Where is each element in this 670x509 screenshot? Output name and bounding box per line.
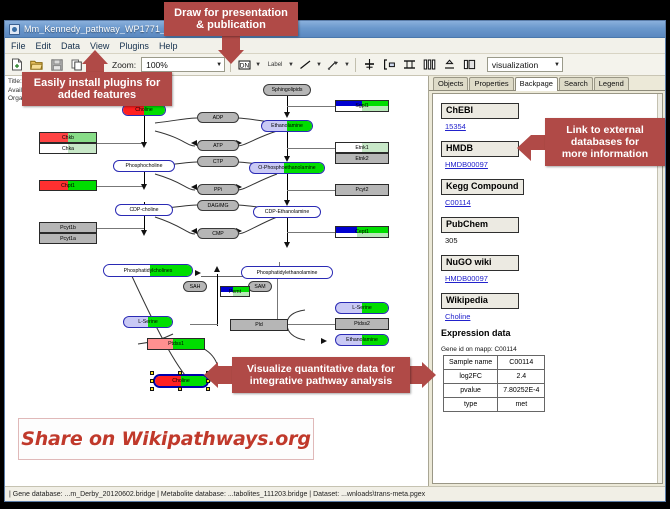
callout-draw-line1: Draw for presentation (174, 7, 288, 19)
line-icon[interactable] (297, 56, 314, 73)
database-name-wikipedia: Wikipedia (441, 293, 519, 309)
metabolite-node-choline-selected[interactable]: Choline (153, 374, 209, 388)
callout-link-line1: Link to external (566, 124, 644, 136)
database-name-hmdb: HMDB (441, 141, 519, 157)
edge-etnk-spine (287, 148, 335, 149)
cofactor-node-cmp[interactable]: CMP (197, 228, 239, 239)
cofactor-node-dagmg[interactable]: DAG/MG (197, 200, 239, 211)
edge-ethanolamine-ope (287, 132, 288, 160)
metabolite-node-ethanolamine-right[interactable]: Ethanolamine (335, 334, 389, 346)
callout-visualize-line1: Visualize quantitative data for (247, 363, 395, 375)
callout-share: Share on Wikipathways.org (18, 418, 314, 460)
label-button-text: Label (268, 62, 283, 68)
menu-item-plugins[interactable]: Plugins (118, 41, 150, 51)
new-file-icon[interactable] (8, 56, 25, 73)
metabolite-node-l-serine-right[interactable]: L-Serine (335, 302, 389, 314)
tab-legend[interactable]: Legend (594, 77, 629, 90)
edge-chk-spine (97, 143, 144, 144)
toolbar-separator (355, 58, 356, 72)
menu-item-data[interactable]: Data (60, 41, 81, 51)
cofactor-node-sam[interactable]: SAM (248, 281, 272, 292)
callout-link-arrow (517, 135, 531, 161)
edge-sgpl1-spine (287, 106, 335, 107)
label-icon[interactable]: Label (264, 56, 286, 73)
database-block-kegg: Kegg Compound C00114 (441, 176, 662, 208)
chevron-down-icon: ▼ (554, 62, 560, 68)
chevron-down-icon[interactable]: ▼ (255, 62, 261, 68)
table-row: Sample name C00114 (444, 356, 545, 370)
gene-node-etnk2[interactable]: Etnk2 (335, 153, 389, 164)
cofactor-node-ctp[interactable]: CTP (197, 156, 239, 167)
callout-share-text: Share on Wikipathways.org (21, 428, 310, 450)
cell-key-log2fc: log2FC (444, 370, 498, 384)
menu-item-file[interactable]: File (10, 41, 27, 51)
callout-plugins: Easily install plugins for added feature… (22, 72, 172, 106)
tab-properties[interactable]: Properties (469, 77, 513, 90)
visualization-combobox[interactable]: visualization ▼ (487, 57, 563, 72)
gene-node-chpt1[interactable]: Chpt1 (39, 180, 97, 191)
metabolite-node-o-phosphoethanolamine[interactable]: O-Phosphoethanolamine (249, 162, 325, 174)
tab-backpage[interactable]: Backpage (515, 77, 558, 91)
callout-plugins-line1: Easily install plugins for (34, 77, 161, 89)
metabolite-node-phosphatidylcholines[interactable]: Phosphatidylcholines (103, 264, 193, 277)
visualization-value: visualization (492, 60, 538, 70)
gene-node-pemt[interactable]: Pemt (220, 286, 250, 297)
gene-node-chkb[interactable]: Chkb (39, 132, 97, 143)
edge-choline-phosphocholine (144, 116, 145, 146)
selection-handle[interactable] (178, 387, 182, 391)
callout-link-line2: databases for (571, 136, 639, 148)
chevron-down-icon[interactable]: ▼ (288, 62, 294, 68)
database-value-kegg: C00114 (445, 198, 662, 208)
cofactor-node-atp[interactable]: ATP (197, 140, 239, 151)
open-folder-icon[interactable] (28, 56, 45, 73)
metabolite-node-l-serine-left[interactable]: L-Serine (123, 316, 173, 328)
expression-data-title: Expression data (441, 328, 662, 338)
gene-node-etnk1[interactable]: Etnk1 (335, 142, 389, 153)
database-block-wikipedia: Wikipedia Choline (441, 290, 662, 322)
menu-item-edit[interactable]: Edit (35, 41, 53, 51)
app-icon (9, 24, 20, 35)
table-row: type met (444, 398, 545, 412)
table-row: pvalue 7.80252E-4 (444, 384, 545, 398)
gene-node-pld[interactable]: Pld (230, 319, 288, 331)
gene-node-sgpl1[interactable]: Sgpl1 (335, 100, 389, 112)
tab-objects[interactable]: Objects (433, 77, 468, 90)
zoom-combobox[interactable]: 100% ▼ (141, 57, 225, 72)
table-row: log2FC 2.4 (444, 370, 545, 384)
screenshot-root: Mm_Kennedy_pathway_WP1771_45176.gpml Fil… (0, 0, 670, 509)
chebi-link[interactable]: 15354 (445, 122, 466, 131)
database-value-wikipedia: Choline (445, 312, 662, 322)
callout-draw: Draw for presentation & publication (164, 2, 298, 36)
database-name-pubchem: PubChem (441, 217, 519, 233)
cell-value-pvalue: 7.80252E-4 (498, 384, 545, 398)
status-bar: | Gene database: ...m_Derby_20120602.bri… (5, 486, 665, 501)
side-panel-tabs: Objects Properties Backpage Search Legen… (429, 76, 665, 91)
cell-value-type: met (498, 398, 545, 412)
selection-handle[interactable] (150, 371, 154, 375)
edge-pe-pisd (217, 274, 218, 326)
order-icon[interactable] (461, 56, 478, 73)
edge-chpt1-spine (97, 186, 144, 187)
status-bar-text: | Gene database: ...m_Derby_20120602.bri… (9, 491, 425, 498)
metabolite-node-cdp-ethanolamine[interactable]: CDP-Ethanolamine (253, 206, 321, 218)
callout-visualize-right-arrow (422, 362, 436, 388)
gene-node-pcyt1a[interactable]: Pcyt1a (39, 233, 97, 244)
cell-key-pvalue: pvalue (444, 384, 498, 398)
cofactor-node-adp[interactable]: ADP (197, 112, 239, 123)
menu-item-help[interactable]: Help (158, 41, 179, 51)
selection-handle[interactable] (150, 379, 154, 383)
selection-handle[interactable] (178, 371, 182, 375)
callout-draw-line2: & publication (196, 19, 266, 31)
gene-node-ptdss1[interactable]: Ptdss1 (147, 338, 205, 350)
zoom-label: Zoom: (112, 60, 136, 70)
nugo-link[interactable]: HMDB00097 (445, 274, 488, 283)
cell-key-type: type (444, 398, 498, 412)
anchor-icon[interactable] (361, 56, 378, 73)
bracket-icon[interactable] (381, 56, 398, 73)
edge-pcyt2-spine (287, 190, 335, 191)
callout-link-line3: more information (562, 148, 648, 160)
expression-data-table: Sample name C00114 log2FC 2.4 pvalue 7.8… (443, 355, 545, 412)
cofactor-node-ppi[interactable]: PPi (197, 184, 239, 195)
distribute-icon[interactable] (421, 56, 438, 73)
cofactor-node-sah[interactable]: SAH (183, 281, 207, 292)
database-value-nugo: HMDB00097 (445, 274, 662, 284)
database-name-chebi: ChEBI (441, 103, 519, 119)
chevron-down-icon[interactable]: ▼ (316, 62, 322, 68)
metabolite-node-ethanolamine[interactable]: Ethanolamine (261, 120, 313, 132)
gene-id-line: Gene id on mapp: C00114 (441, 346, 662, 353)
metabolite-node-sphingolipids[interactable]: Sphingolipids (263, 84, 311, 96)
database-name-nugo: NuGO wiki (441, 255, 519, 271)
stack-icon[interactable] (441, 56, 458, 73)
menu-item-view[interactable]: View (89, 41, 110, 51)
edge-cept1-spine (287, 232, 335, 233)
metabolite-node-cdp-choline[interactable]: CDP-choline (115, 204, 173, 216)
cell-value-sample-name: C00114 (498, 356, 545, 370)
wikipedia-link[interactable]: Choline (445, 312, 470, 321)
align-icon[interactable] (401, 56, 418, 73)
gene-node-ptdss2[interactable]: Ptdss2 (335, 318, 389, 330)
chevron-down-icon[interactable]: ▼ (344, 62, 350, 68)
value-half-blue (336, 227, 357, 233)
zoom-value: 100% (146, 60, 168, 70)
hmdb-link[interactable]: HMDB00097 (445, 160, 488, 169)
database-block-nugo: NuGO wiki HMDB00097 (441, 252, 662, 284)
callout-visualize-left-arrow (204, 362, 218, 388)
arrow-shape-icon[interactable] (325, 56, 342, 73)
gene-node-chka[interactable]: Chka (39, 143, 97, 154)
database-block-pubchem: PubChem 305 (441, 214, 662, 246)
title-bar: Mm_Kennedy_pathway_WP1771_45176.gpml (5, 21, 665, 38)
callout-plugins-arrow (82, 50, 108, 64)
callout-visualize-line2: integrative pathway analysis (250, 375, 392, 387)
callout-draw-arrow (218, 50, 244, 64)
database-value-pubchem: 305 (445, 236, 662, 246)
cell-key-sample-name: Sample name (444, 356, 498, 370)
save-icon[interactable] (48, 56, 65, 73)
gene-node-pcyt1b[interactable]: Pcyt1b (39, 222, 97, 233)
selection-handle[interactable] (150, 387, 154, 391)
metabolite-node-phosphocholine[interactable]: Phosphocholine (113, 160, 175, 172)
edge-ope-cdpetn (287, 174, 288, 204)
gene-node-cept1[interactable]: Cept1 (335, 226, 389, 238)
database-name-kegg: Kegg Compound (441, 179, 524, 195)
callout-plugins-line2: added features (58, 89, 136, 101)
callout-visualize: Visualize quantitative data for integrat… (232, 357, 410, 393)
edge-pcyt1-spine (97, 228, 144, 229)
cell-value-log2fc: 2.4 (498, 370, 545, 384)
metabolite-node-phosphatidylethanolamine[interactable]: Phosphatidylethanolamine (241, 266, 333, 279)
gene-node-pcyt2[interactable]: Pcyt2 (335, 184, 389, 196)
edge-pisd-link (190, 324, 218, 325)
tab-search[interactable]: Search (559, 77, 593, 90)
kegg-link[interactable]: C00114 (445, 198, 471, 207)
callout-link: Link to external databases for more info… (545, 118, 665, 166)
